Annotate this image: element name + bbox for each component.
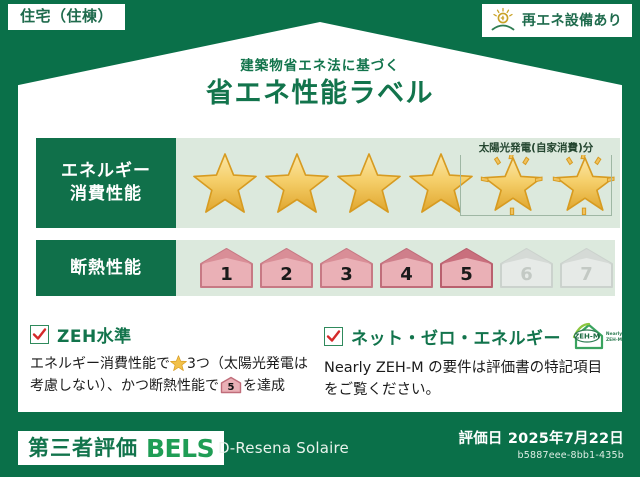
energy-row-label: エネルギー 消費性能 (36, 138, 176, 228)
insulation-level-badge: 3 (318, 246, 375, 290)
star-icon (170, 355, 187, 372)
solar-caption: 太陽光発電(自家消費)分 (460, 140, 612, 155)
renewable-energy-chip: 再エネ設備あり (482, 4, 632, 37)
bels-jp-text: 第三者評価 (28, 438, 138, 459)
energy-row-value: 太陽光発電(自家消費)分 (176, 138, 620, 228)
insulation-level-scale: 1 2 3 4 5 (176, 246, 615, 290)
insulation-level-badge-inline: 5 (220, 376, 242, 394)
insulation-level-number: 2 (258, 266, 315, 284)
zeh-body-part1: エネルギー消費性能で (30, 356, 170, 372)
svg-text:Nearly: Nearly (606, 331, 622, 337)
insulation-level-number: 5 (438, 266, 495, 284)
label-title: 建築物省エネ法に基づく 省エネ性能ラベル (0, 58, 640, 109)
title-main: 省エネ性能ラベル (0, 78, 640, 109)
title-subtitle: 建築物省エネ法に基づく (0, 58, 640, 74)
energy-performance-label: 住宅（住棟） 再エネ設備あり 建築物省エネ法に基づく 省エネ性能ラベル (0, 0, 640, 477)
zeh-heading-row: ZEH水準 (30, 322, 308, 347)
insulation-level-badge-achieved: 5 (438, 246, 495, 290)
insulation-level-badge-inactive: 6 (498, 246, 555, 290)
energy-performance-row: エネルギー 消費性能 (36, 138, 604, 228)
inline-level-number: 5 (220, 383, 242, 393)
nze-heading-row: ネット・ゼロ・エネルギー ZEH-M Nearly ZEH-M (324, 322, 610, 350)
star-icon (334, 149, 404, 217)
insulation-level-badge: 4 (378, 246, 435, 290)
zeh-body: エネルギー消費性能で3つ（太陽光発電は考慮しない）、かつ断熱性能で5を達成 (30, 354, 308, 397)
check-icon (324, 327, 343, 346)
sun-landscape-icon (490, 7, 516, 33)
renewable-chip-label: 再エネ設備あり (522, 10, 622, 30)
insulation-level-badge: 2 (258, 246, 315, 290)
insulation-row-label: 断熱性能 (36, 240, 176, 296)
insulation-row-value: 1 2 3 4 5 (176, 240, 615, 296)
certification-columns: ZEH水準 エネルギー消費性能で3つ（太陽光発電は考慮しない）、かつ断熱性能で5… (30, 322, 610, 402)
building-type-chip: 住宅（住棟） (8, 4, 125, 30)
check-icon (30, 325, 49, 344)
solar-bracket (460, 154, 612, 216)
nze-body: Nearly ZEH-M の要件は評価書の特記項目をご覧ください。 (324, 357, 610, 402)
insulation-level-badge-inactive: 7 (558, 246, 615, 290)
insulation-label-text: 断熱性能 (70, 257, 142, 280)
star-icon (262, 149, 332, 217)
project-name: D-Resena Solaire (218, 439, 349, 457)
bels-en-text: BELS (146, 436, 214, 461)
insulation-level-number: 7 (558, 266, 615, 284)
insulation-level-badge: 1 (198, 246, 255, 290)
svg-text:ZEH-M: ZEH-M (574, 333, 600, 341)
insulation-level-number: 6 (498, 266, 555, 284)
star-icon (190, 149, 260, 217)
evaluation-date: 評価日 2025年7月22日 (459, 431, 624, 448)
net-zero-energy-block: ネット・ゼロ・エネルギー ZEH-M Nearly ZEH-M Nearly Z… (324, 322, 610, 402)
zeh-body-part3: を達成 (243, 378, 285, 394)
energy-label-line2: 消費性能 (70, 183, 142, 206)
svg-text:ZEH-M: ZEH-M (606, 337, 622, 343)
zeh-level-block: ZEH水準 エネルギー消費性能で3つ（太陽光発電は考慮しない）、かつ断熱性能で5… (30, 322, 308, 402)
zeh-heading: ZEH水準 (57, 322, 132, 347)
footer-meta: 評価日 2025年7月22日 b5887eee-8bb1-435b (459, 431, 624, 461)
label-footer: 第三者評価 BELS D-Resena Solaire 評価日 2025年7月2… (0, 423, 640, 477)
energy-label-line1: エネルギー (61, 160, 151, 183)
insulation-level-number: 4 (378, 266, 435, 284)
insulation-level-number: 3 (318, 266, 375, 284)
bels-logo: 第三者評価 BELS (18, 431, 224, 465)
nze-heading: ネット・ゼロ・エネルギー (351, 324, 561, 349)
zeh-m-house-icon: ZEH-M Nearly ZEH-M (571, 322, 625, 350)
evaluation-id: b5887eee-8bb1-435b (459, 450, 624, 461)
insulation-level-number: 1 (198, 266, 255, 284)
insulation-performance-row: 断熱性能 1 2 3 4 (36, 240, 604, 296)
